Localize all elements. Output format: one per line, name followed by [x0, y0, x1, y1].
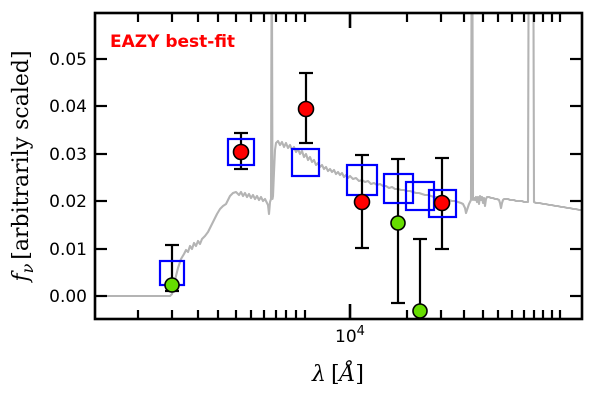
svg-text:104: 104 [335, 324, 365, 347]
errorbar-green-1 [391, 159, 405, 303]
x-tick-label-mantissa: 10 [335, 327, 357, 347]
svg-text:λ[Å]: λ[Å] [311, 359, 364, 387]
red-point [435, 196, 450, 211]
axes-frame [95, 13, 582, 319]
green-data-points [165, 216, 427, 318]
green-point [165, 278, 179, 292]
x-tick-label-exponent: 4 [357, 324, 365, 339]
svg-text:fν[arbitrarily scaled]: fν[arbitrarily scaled] [9, 50, 37, 283]
sed-plot: 0.05 0.04 0.03 0.02 0.01 0.00 [0, 0, 600, 400]
eazy-best-fit-annotation: EAZY best-fit [110, 32, 235, 52]
y-tick-labels: 0.05 0.04 0.03 0.02 0.01 0.00 [49, 50, 87, 307]
green-point [413, 304, 427, 318]
y-tick-label: 0.02 [49, 192, 87, 212]
x-axis-label: λ[Å] [311, 359, 364, 387]
model-spectrum-curve [95, 13, 582, 296]
x-tick-label-group: 104 [335, 324, 365, 347]
red-point [299, 102, 314, 117]
y-tick-label: 0.00 [49, 287, 87, 307]
y-axis-label: fν[arbitrarily scaled] [9, 50, 37, 283]
spectrum-path [95, 13, 582, 296]
y-tick-label: 0.03 [49, 145, 87, 165]
y-tick-label: 0.01 [49, 240, 87, 260]
red-point [234, 145, 249, 160]
green-point [391, 216, 405, 230]
y-tick-label: 0.05 [49, 50, 87, 70]
figure-panel: 0.05 0.04 0.03 0.02 0.01 0.00 [0, 0, 600, 400]
red-point [355, 195, 370, 210]
y-tick-label: 0.04 [49, 97, 87, 117]
red-data-points [234, 102, 450, 211]
